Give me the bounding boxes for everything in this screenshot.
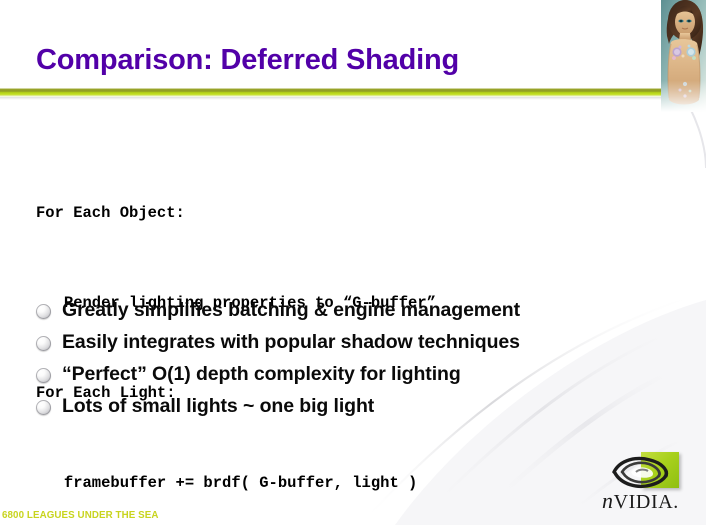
list-item: “Perfect” O(1) depth complexity for ligh… [36,358,676,390]
page-title: Comparison: Deferred Shading [36,44,459,77]
list-item-label: Easily integrates with popular shadow te… [62,331,520,354]
sphere-bullet-icon [36,368,51,383]
sphere-bullet-icon [36,304,51,319]
title-divider-rule [0,88,662,97]
sphere-bullet-icon [36,400,51,415]
nvidia-wordmark: nVIDIA. [602,488,679,514]
code-line: For Each Object: [36,198,436,228]
title-divider-shadow [0,97,662,100]
wordmark-n: n [602,488,614,513]
bullet-list: Greatly simplifies batching & engine man… [36,294,676,422]
list-item-label: “Perfect” O(1) depth complexity for ligh… [62,363,461,386]
wordmark-rest: VIDIA. [614,491,679,513]
footer-tagline: 6800 LEAGUES UNDER THE SEA [2,509,159,521]
list-item: Lots of small lights ~ one big light [36,390,676,422]
list-item-label: Greatly simplifies batching & engine man… [62,299,520,322]
sphere-bullet-icon [36,336,51,351]
code-line: framebuffer += brdf( G-buffer, light ) [36,468,436,498]
slide-canvas: Comparison: Deferred Shading [0,0,706,525]
nvidia-logo: nVIDIA. [600,450,704,516]
list-item-label: Lots of small lights ~ one big light [62,395,374,418]
nvidia-eye-mark-icon [600,450,686,490]
list-item: Easily integrates with popular shadow te… [36,326,676,358]
list-item: Greatly simplifies batching & engine man… [36,294,676,326]
character-render-thumbnail [661,0,706,112]
